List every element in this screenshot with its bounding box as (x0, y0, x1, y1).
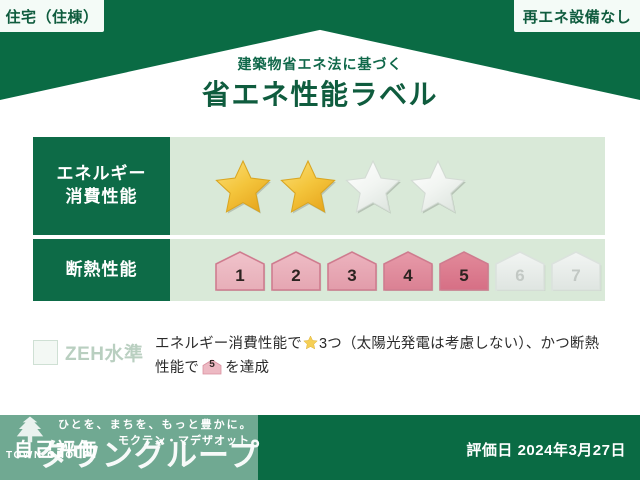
star-rating (214, 158, 467, 214)
insulation-level-4: 4 (382, 250, 434, 291)
row-insulation-label-line1: 断熱性能 (66, 259, 138, 282)
zeh-text-part1: エネルギー消費性能で (155, 336, 302, 352)
insulation-level-value: 1 (235, 267, 244, 291)
zeh-note: ZEH水準 エネルギー消費性能で3つ（太陽光発電は考慮しない）、かつ断熱性能で5… (33, 333, 605, 381)
row-insulation-performance: 断熱性能 1234567 (33, 239, 605, 301)
insulation-level-3: 3 (326, 250, 378, 291)
row-energy-performance: エネルギー 消費性能 (33, 137, 605, 235)
insulation-level-value: 5 (459, 267, 468, 291)
zeh-text-part3: を達成 (225, 360, 269, 376)
insulation-level-scale: 1234567 (214, 250, 602, 291)
self-evaluation-text: 自己評価 (14, 435, 98, 462)
star-icon-empty (344, 158, 402, 214)
page-title: 省エネ性能ラベル (0, 80, 640, 111)
title-subtitle: 建築物省エネ法に基づく (0, 56, 640, 73)
row-insulation-label: 断熱性能 (33, 239, 170, 301)
star-icon-filled (214, 158, 272, 214)
inline-house-value: 5 (202, 359, 222, 375)
zeh-label: ZEH水準 (65, 339, 144, 366)
row-insulation-body: 1234567 (170, 239, 605, 301)
insulation-level-value: 7 (571, 267, 580, 291)
row-energy-label-line2: 消費性能 (66, 186, 138, 209)
title-block: 建築物省エネ法に基づく 省エネ性能ラベル (0, 56, 640, 111)
insulation-level-value: 2 (291, 267, 300, 291)
insulation-level-7: 7 (550, 250, 602, 291)
star-icon-filled (279, 158, 337, 214)
footer-bar: 自己評価 評価日 2024年3月27日 (0, 415, 640, 480)
label-root: 住宅（住棟） 再エネ設備なし 建築物省エネ法に基づく 省エネ性能ラベル エネルギ… (0, 0, 640, 480)
insulation-level-2: 2 (270, 250, 322, 291)
insulation-level-value: 3 (347, 267, 356, 291)
insulation-level-value: 6 (515, 267, 524, 291)
star-icon (303, 335, 318, 350)
badge-renewable-energy: 再エネ設備なし (514, 0, 640, 32)
zeh-description: エネルギー消費性能で3つ（太陽光発電は考慮しない）、かつ断熱性能で5を達成 (155, 333, 605, 381)
house-icon: 5 (202, 359, 222, 375)
row-energy-label-line1: エネルギー (57, 163, 147, 186)
evaluation-date: 評価日 2024年3月27日 (466, 439, 626, 460)
insulation-level-1: 1 (214, 250, 266, 291)
row-energy-label: エネルギー 消費性能 (33, 137, 170, 235)
zeh-mark-icon (33, 340, 58, 365)
zeh-mark: ZEH水準 (33, 333, 155, 366)
insulation-level-5: 5 (438, 250, 490, 291)
row-energy-body (170, 137, 605, 235)
insulation-level-6: 6 (494, 250, 546, 291)
badge-building-type: 住宅（住棟） (0, 0, 104, 32)
star-icon-empty (409, 158, 467, 214)
insulation-level-value: 4 (403, 267, 412, 291)
